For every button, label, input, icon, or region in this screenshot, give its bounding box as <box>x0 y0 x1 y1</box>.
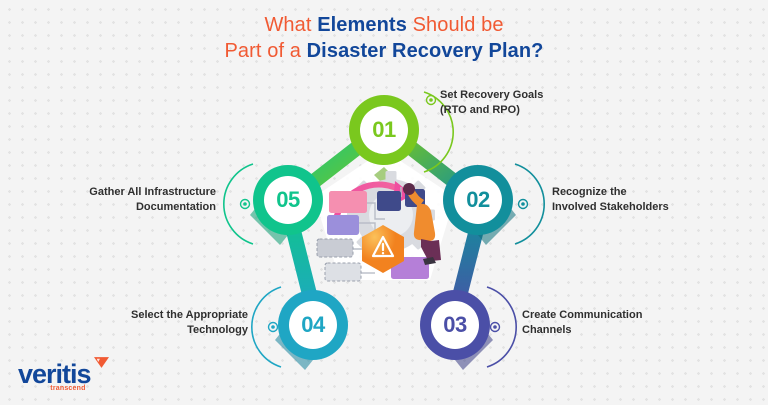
node-02-label: Recognize the Involved Stakeholders <box>552 185 669 214</box>
node-05-label: Gather All Infrastructure Documentation <box>0 185 216 214</box>
node-03-label: Create Communication Channels <box>522 308 642 337</box>
node-01[interactable]: 01 <box>349 95 419 165</box>
node-01-number: 01 <box>372 117 395 143</box>
node-01-label-line2: (RTO and RPO) <box>440 103 543 118</box>
node-01-label-line1: Set Recovery Goals <box>440 88 543 103</box>
node-04-label-line2: Technology <box>0 323 248 338</box>
pentagon-cycle-diagram: 01 Set Recovery Goals (RTO and RPO) 02 R… <box>0 0 768 405</box>
node-01-inner: 01 <box>360 106 408 154</box>
node-01-label: Set Recovery Goals (RTO and RPO) <box>440 88 543 117</box>
node-03-label-line2: Channels <box>522 323 642 338</box>
node-02-inner: 02 <box>454 176 502 224</box>
node-04-inner: 04 <box>289 301 337 349</box>
node-03-inner: 03 <box>431 301 479 349</box>
node-02-label-line1: Recognize the <box>552 185 669 200</box>
node-05-inner: 05 <box>264 176 312 224</box>
node-03-number: 03 <box>443 312 466 338</box>
disaster-recovery-illustration <box>313 157 455 289</box>
node-03-label-line1: Create Communication <box>522 308 642 323</box>
node-04-label: Select the Appropriate Technology <box>0 308 248 337</box>
node-04[interactable]: 04 <box>278 290 348 360</box>
node-04-number: 04 <box>301 312 324 338</box>
node-02-number: 02 <box>466 187 489 213</box>
node-05-label-line2: Documentation <box>0 200 216 215</box>
veritis-logo[interactable]: veritis transcend <box>18 361 91 392</box>
v-mark-icon <box>94 357 109 368</box>
node-05-number: 05 <box>276 187 299 213</box>
infographic-canvas: What Elements Should be Part of a Disast… <box>0 0 768 405</box>
node-04-label-line1: Select the Appropriate <box>0 308 248 323</box>
node-05-label-line1: Gather All Infrastructure <box>0 185 216 200</box>
node-03[interactable]: 03 <box>420 290 490 360</box>
logo-wordmark: veritis <box>18 361 91 388</box>
node-02-label-line2: Involved Stakeholders <box>552 200 669 215</box>
